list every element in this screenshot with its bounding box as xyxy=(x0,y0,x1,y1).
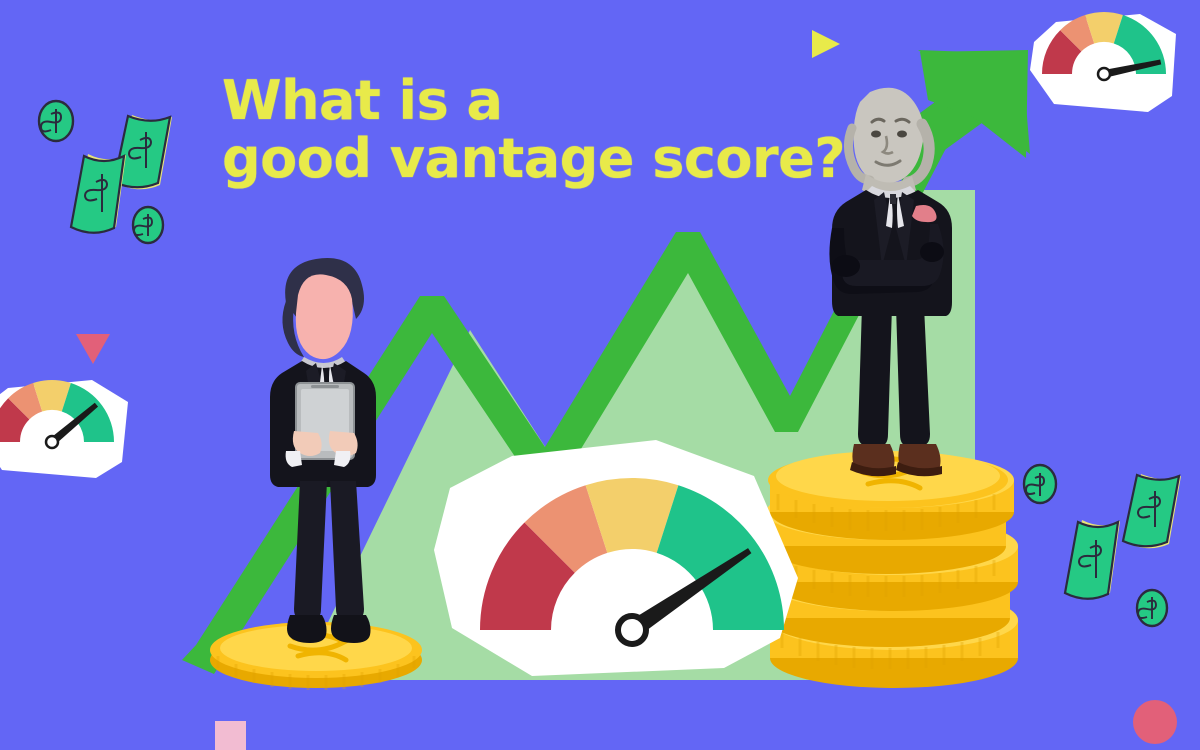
analyst-body-icon xyxy=(270,357,376,643)
top-right-gauge xyxy=(1020,8,1188,120)
gauge-hub xyxy=(1098,68,1110,80)
money-right-cluster xyxy=(1012,448,1200,638)
analyst-head-icon xyxy=(282,258,364,359)
coin-bill-small-1 xyxy=(39,101,73,141)
left-gauge xyxy=(0,372,140,484)
coin-bill-small-4 xyxy=(1137,590,1167,626)
franklin-head-icon xyxy=(848,88,929,198)
money-bill-2 xyxy=(71,154,126,233)
money-bill-3 xyxy=(1123,474,1181,548)
gauge-hub xyxy=(618,616,646,644)
main-gauge xyxy=(424,432,830,718)
coin-bill-small-2 xyxy=(133,207,163,243)
analyst-figure xyxy=(262,255,388,655)
money-left-cluster xyxy=(24,94,209,259)
poster-canvas: What is a good vantage score? xyxy=(0,0,1200,750)
franklin-body-icon xyxy=(829,186,952,476)
gauge-hub xyxy=(46,436,58,448)
page-title: What is a good vantage score? xyxy=(222,72,845,188)
money-bill-4 xyxy=(1065,520,1120,599)
